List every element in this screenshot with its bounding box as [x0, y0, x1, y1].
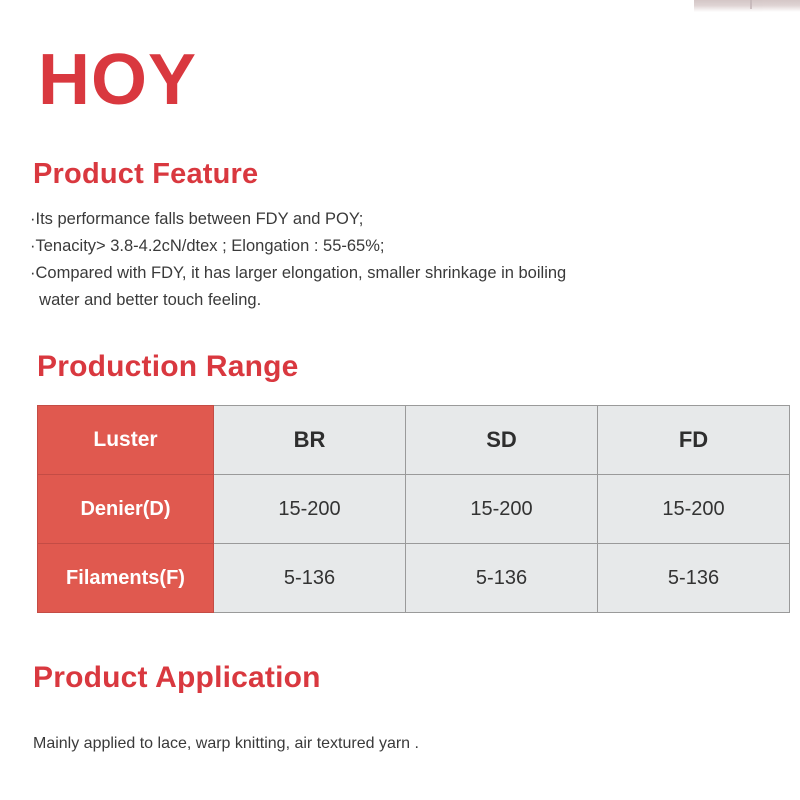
section-heading-product-application: Product Application — [33, 663, 321, 693]
product-datasheet-page: HOY Product Feature ·Its performance fal… — [0, 0, 800, 800]
cell-filaments-fd: 5-136 — [598, 544, 790, 613]
list-item: ·Its performance falls between FDY and P… — [30, 206, 730, 233]
table-header-sd: SD — [406, 406, 598, 475]
section-heading-product-feature: Product Feature — [33, 160, 258, 189]
page-title: HOY — [38, 44, 197, 116]
table-row: Denier(D) 15-200 15-200 15-200 — [38, 475, 790, 544]
list-item: ·Compared with FDY, it has larger elonga… — [30, 260, 730, 314]
table-row: Filaments(F) 5-136 5-136 5-136 — [38, 544, 790, 613]
cell-denier-sd: 15-200 — [406, 475, 598, 544]
cell-denier-br: 15-200 — [214, 475, 406, 544]
list-item: ·Tenacity> 3.8-4.2cN/dtex ; Elongation :… — [30, 233, 730, 260]
cell-filaments-br: 5-136 — [214, 544, 406, 613]
production-range-table: Luster BR SD FD Denier(D) 15-200 15-200 … — [37, 405, 790, 613]
table-header-br: BR — [214, 406, 406, 475]
row-label-filaments: Filaments(F) — [38, 544, 214, 613]
table-header-luster: Luster — [38, 406, 214, 475]
table-header-fd: FD — [598, 406, 790, 475]
cell-denier-fd: 15-200 — [598, 475, 790, 544]
table-header-row: Luster BR SD FD — [38, 406, 790, 475]
cell-filaments-sd: 5-136 — [406, 544, 598, 613]
product-feature-list: ·Its performance falls between FDY and P… — [30, 206, 730, 314]
product-application-text: Mainly applied to lace, warp knitting, a… — [33, 732, 419, 756]
section-heading-production-range: Production Range — [37, 352, 299, 382]
row-label-denier: Denier(D) — [38, 475, 214, 544]
